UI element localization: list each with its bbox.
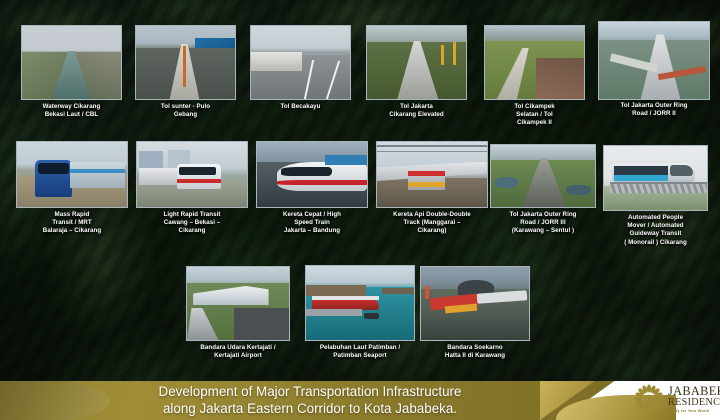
caption-tol-becakayu: Tol Becakayu [242,103,359,111]
photo-elevated-toll-road-construction-city [135,25,236,100]
caption-soekarno-hatta-airport: Bandara Soekarno Hatta II di Karawang [408,344,542,360]
tile-patimban-seaport[interactable]: Pelabuhan Laut Patimban / Patimban Seapo… [305,265,415,341]
photo-mrt-blue-train [16,141,128,208]
photo-kertajati-airport-terminal [186,266,290,341]
caption-tol-jakarta-cikarang-elevated: Tol Jakarta Cikarang Elevated [358,103,475,119]
tile-tol-jakarta-cikarang-elevated[interactable]: Tol Jakarta Cikarang Elevated [366,25,467,100]
tile-tol-sunter-pulo-gebang[interactable]: Tol sunter - Pulo Gebang [135,25,236,100]
logo-brand-sub: RESIDENCE [668,397,720,408]
photo-aerial-new-tollway-green [490,144,596,208]
tile-mrt[interactable]: Mass Rapid Transit / MRT Balaraja – Cika… [16,141,128,208]
photo-high-speed-train-red-white [256,141,368,208]
caption-jorr3: Tol Jakarta Outer Ring Road / JORR III (… [482,211,604,236]
logo-brand-name: JABABEKA [668,385,720,397]
photo-lrt-white-red-train [136,141,248,208]
caption-kertajati-airport: Bandara Udara Kertajati / Kertajati Airp… [170,344,306,360]
logo-tagline: A City for Your World [668,409,720,413]
caption-mrt: Mass Rapid Transit / MRT Balaraja – Cika… [8,211,136,236]
tile-tol-becakayu[interactable]: Tol Becakayu [250,25,351,100]
tile-automated-people-mover[interactable]: Automated People Mover / Automated Guide… [603,145,708,211]
banner-title-line2: along Jakarta Eastern Corridor to Kota J… [40,401,580,418]
tile-soekarno-hatta-airport[interactable]: Bandara Soekarno Hatta II di Karawang [420,266,530,341]
caption-double-double-track: Kereta Api Double-Double Track (Manggara… [362,211,502,236]
logo-text-block: JABABEKA RESIDENCE A City for Your World [668,385,720,413]
tile-tol-cikampek-selatan[interactable]: Tol Cikampek Selatan / Tol Cikampek II [484,25,585,100]
flower-rosette-icon [634,384,664,414]
photo-aerial-river-waterway [21,25,122,100]
tile-high-speed-train[interactable]: Kereta Cepat / High Speed Train Jakarta … [256,141,368,208]
caption-high-speed-train: Kereta Cepat / High Speed Train Jakarta … [248,211,376,236]
tile-kertajati-airport[interactable]: Bandara Udara Kertajati / Kertajati Airp… [186,266,290,341]
tile-waterway-cikarang[interactable]: Waterway Cikarang Bekasi Laut / CBL [21,25,122,100]
photo-commuter-train-double-track [376,141,488,208]
photo-aerial-elevated-tollway-cranes [366,25,467,100]
banner-title-line1: Development of Major Transportation Infr… [40,384,580,401]
caption-tol-jakarta-outer-ring-road-jorr2: Tol Jakarta Outer Ring Road / JORR II [590,102,718,118]
bottom-banner: Development of Major Transportation Infr… [0,381,720,420]
caption-tol-cikampek-selatan: Tol Cikampek Selatan / Tol Cikampek II [476,103,593,128]
poster-root: Waterway Cikarang Bekasi Laut / CBL Tol … [0,0,720,420]
tile-double-double-track[interactable]: Kereta Api Double-Double Track (Manggara… [376,141,488,208]
jababeka-logo[interactable]: JABABEKA RESIDENCE A City for Your World [632,378,720,420]
photo-aerial-new-road-through-fields [484,25,585,100]
photo-elevated-highway-empty-lanes [250,25,351,100]
tile-tol-jakarta-outer-ring-road-jorr2[interactable]: Tol Jakarta Outer Ring Road / JORR II [598,21,710,100]
tile-lrt[interactable]: Light Rapid Transit Cawang – Bekasi – Ci… [136,141,248,208]
photo-monorail-people-mover [603,145,708,211]
caption-waterway-cikarang: Waterway Cikarang Bekasi Laut / CBL [13,103,130,119]
photo-aerial-interchange-jorr [598,21,710,100]
caption-tol-sunter-pulo-gebang: Tol sunter - Pulo Gebang [127,103,244,119]
photo-soekarno-hatta-airport-apron [420,266,530,341]
banner-title: Development of Major Transportation Infr… [40,384,580,417]
caption-lrt: Light Rapid Transit Cawang – Bekasi – Ci… [128,211,256,236]
tile-jorr3[interactable]: Tol Jakarta Outer Ring Road / JORR III (… [490,144,596,208]
photo-patimban-seaport-ship [305,265,415,341]
caption-automated-people-mover: Automated People Mover / Automated Guide… [595,214,716,247]
